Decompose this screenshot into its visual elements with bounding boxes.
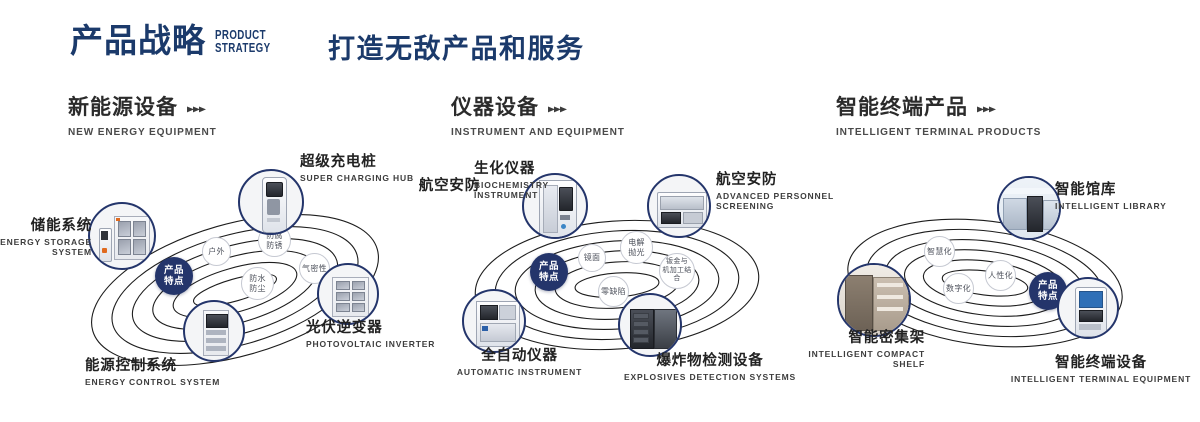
- page-title: 产品战略: [70, 24, 206, 57]
- node-photovoltaic-inverter[interactable]: [317, 263, 379, 325]
- node-intelligent-terminal-equipment[interactable]: [1057, 277, 1119, 339]
- feature-core-new-energy: 产品 特点: [155, 257, 193, 295]
- page-title-en: PRODUCT STRATEGY: [215, 29, 270, 55]
- label-intelligent-terminal-equipment: 智能终端设备 INTELLIGENT TERMINAL EQUIPMENT: [1005, 355, 1197, 384]
- header-tagline: 打造无敌产品和服务: [328, 36, 585, 63]
- chevron-right-icon: ▸▸▸: [187, 102, 205, 114]
- compact-shelf-icon: [839, 265, 909, 335]
- section-title-cn-intelligent-terminal: 智能终端产品: [836, 97, 968, 118]
- section-title-en-instrument: INSTRUMENT AND EQUIPMENT: [451, 126, 625, 138]
- label-super-charging-hub: 超级充电桩 SUPER CHARGING HUB: [300, 154, 414, 183]
- label-advanced-personnel-screening: 航空安防 ADVANCED PERSONNEL SCREENING: [716, 172, 834, 211]
- section-title-cn-instrument: 仪器设备: [451, 97, 539, 118]
- core-label-line1: 产品: [539, 261, 559, 272]
- node-super-charging-hub[interactable]: [238, 169, 304, 235]
- terminal-kiosk-icon: [1059, 279, 1117, 337]
- label-aviation-security-side: 航空安防: [408, 178, 480, 195]
- control-cabinet-icon: [185, 302, 243, 360]
- section-heading-instrument: 仪器设备 ▸▸▸ INSTRUMENT AND EQUIPMENT: [451, 97, 632, 138]
- feature-bubble-smart: 智慧化: [924, 236, 955, 267]
- library-shelving-icon: [999, 178, 1059, 238]
- energy-storage-cabinet-icon: [90, 204, 154, 268]
- node-explosives-detection-systems[interactable]: [618, 293, 682, 357]
- label-biochemistry-instrument: 生化仪器 BIOCHEMISTRY INSTRUMENT: [474, 161, 549, 200]
- chevron-right-icon: ▸▸▸: [548, 102, 566, 114]
- section-heading-intelligent-terminal: 智能终端产品 ▸▸▸ INTELLIGENT TERMINAL PRODUCTS: [836, 97, 1050, 138]
- pv-inverter-icon: [319, 265, 377, 323]
- label-energy-control-system: 能源控制系统 ENERGY CONTROL SYSTEM: [85, 358, 220, 387]
- section-title-cn-new-energy: 新能源设备: [68, 97, 178, 118]
- section-title-en-new-energy: NEW ENERGY EQUIPMENT: [68, 126, 217, 138]
- node-intelligent-compact-shelf[interactable]: [837, 263, 911, 337]
- feature-core-instrument: 产品 特点: [530, 253, 568, 291]
- feature-bubble-outdoor: 户外: [202, 237, 231, 266]
- core-label-line2: 特点: [539, 272, 559, 283]
- feature-bubble-digital: 数字化: [943, 273, 974, 304]
- node-automatic-instrument[interactable]: [462, 289, 526, 353]
- label-intelligent-compact-shelf: 智能密集架 INTELLIGENT COMPACT SHELF: [790, 330, 925, 369]
- node-intelligent-library[interactable]: [997, 176, 1061, 240]
- explosives-detector-icon: [620, 295, 680, 355]
- automatic-instrument-icon: [464, 291, 524, 351]
- page-header: 产品战略 PRODUCT STRATEGY: [70, 24, 286, 57]
- section-heading-new-energy: 新能源设备 ▸▸▸ NEW ENERGY EQUIPMENT: [68, 97, 223, 138]
- node-advanced-personnel-screening[interactable]: [647, 174, 711, 238]
- page-title-en-line1: PRODUCT: [215, 28, 266, 42]
- core-label-line1: 产品: [164, 265, 184, 276]
- page-title-en-line2: STRATEGY: [215, 41, 270, 55]
- feature-bubble-sheetmetal-machining: 钣金与 机加工结合: [659, 253, 695, 289]
- label-energy-storage-system: 储能系统 ENERGY STORAGE SYSTEM: [0, 218, 92, 257]
- label-automatic-instrument: 全自动仪器 AUTOMATIC INSTRUMENT: [432, 348, 607, 377]
- feature-bubble-waterproof: 防水 防尘: [241, 267, 274, 300]
- feature-bubble-humanized: 人性化: [985, 260, 1016, 291]
- chevron-right-icon: ▸▸▸: [977, 102, 995, 114]
- label-intelligent-library: 智能馆库 INTELLIGENT LIBRARY: [1055, 182, 1167, 211]
- label-explosives-detection-systems: 爆炸物检测设备 EXPLOSIVES DETECTION SYSTEMS: [615, 353, 805, 382]
- node-energy-storage-system[interactable]: [88, 202, 156, 270]
- screening-machine-icon: [649, 176, 709, 236]
- section-title-en-intelligent-terminal: INTELLIGENT TERMINAL PRODUCTS: [836, 126, 1041, 138]
- core-label-line1: 产品: [1038, 280, 1058, 291]
- label-photovoltaic-inverter: 光伏逆变器 PHOTOVOLTAIC INVERTER: [306, 320, 435, 349]
- core-label-line2: 特点: [164, 276, 184, 287]
- node-energy-control-system[interactable]: [183, 300, 245, 362]
- core-label-line2: 特点: [1038, 291, 1058, 302]
- feature-bubble-mirror: 镜面: [578, 244, 606, 272]
- cluster-new-energy: 产品 特点 户外 防腐 防锈 防水 防尘 气密性: [55, 205, 415, 375]
- product-strategy-infographic: 产品战略 PRODUCT STRATEGY 打造无敌产品和服务 新能源设备 ▸▸…: [0, 0, 1200, 422]
- charging-pile-icon: [240, 171, 302, 233]
